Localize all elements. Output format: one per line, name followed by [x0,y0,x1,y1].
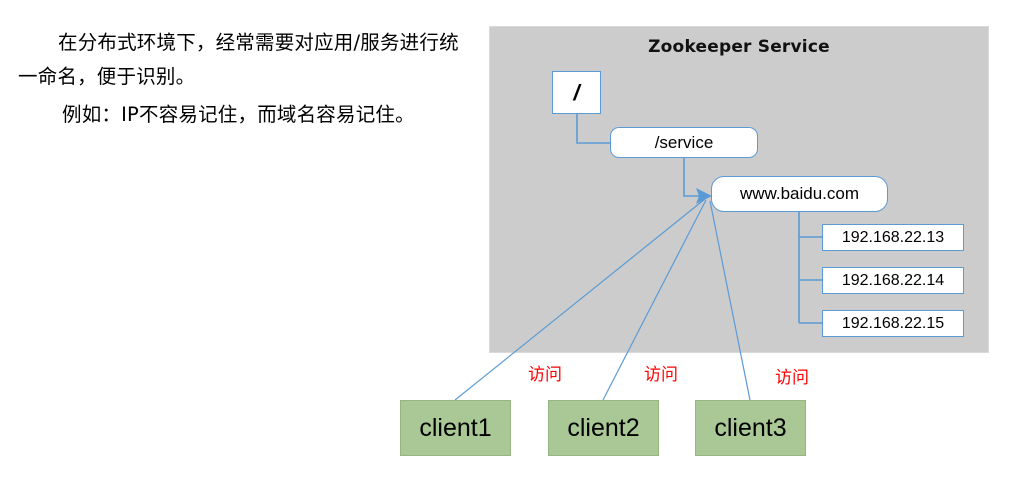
access-label-client2: 访问 [644,360,678,385]
client-box-3[interactable]: client3 [695,400,806,456]
tree-node-root[interactable]: / [552,71,601,114]
client-box-2[interactable]: client2 [548,400,659,456]
access-label-client1: 访问 [528,360,562,385]
tree-node-ip-3[interactable]: 192.168.22.15 [822,310,964,337]
description-paragraph-2: 例如：IP不容易记住，而域名容易记住。 [18,98,468,132]
client-box-1[interactable]: client1 [400,400,511,456]
description-paragraph-1: 在分布式环境下，经常需要对应用/服务进行统一命名，便于识别。 [18,26,468,94]
zookeeper-service-title: Zookeeper Service [490,37,988,57]
tree-node-ip-2[interactable]: 192.168.22.14 [822,267,964,294]
description-text-block: 在分布式环境下，经常需要对应用/服务进行统一命名，便于识别。 例如：IP不容易记… [18,26,468,132]
tree-node-domain[interactable]: www.baidu.com [711,176,888,212]
slide-canvas: 在分布式环境下，经常需要对应用/服务进行统一命名，便于识别。 例如：IP不容易记… [0,0,1022,484]
access-label-client3: 访问 [775,363,809,388]
tree-node-service[interactable]: /service [610,127,758,158]
tree-node-ip-1[interactable]: 192.168.22.13 [822,224,964,251]
